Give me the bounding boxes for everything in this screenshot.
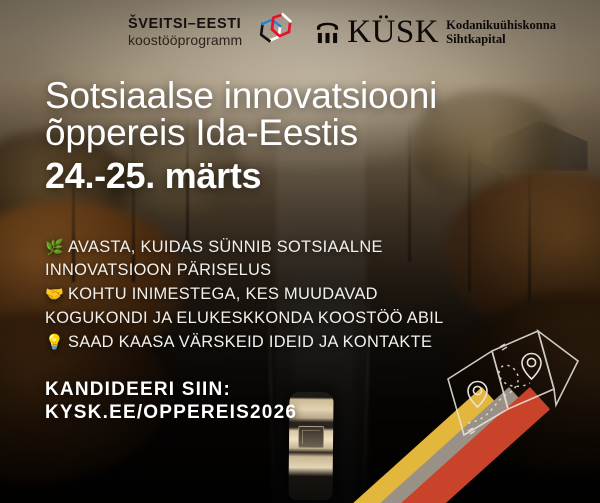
list-item-text: AVASTA, KUIDAS SÜNNIB SOTSIAALNE INNOVAT… (45, 238, 383, 279)
map-panel-middle (492, 331, 554, 409)
kusk-wordmark: KÜSK (347, 17, 439, 47)
list-item: 🤝KOHTU INIMESTEGA, KES MUUDAVAD KOGUKOND… (45, 283, 445, 330)
logo-bar: ŠVEITSI–EESTI koostööprogramm (0, 0, 600, 64)
swiss-logo-text: ŠVEITSI–EESTI koostööprogramm (128, 17, 242, 47)
swiss-logo-line2: koostööprogramm (128, 33, 242, 47)
map-panel-left (448, 351, 508, 435)
classical-building-icon (315, 19, 340, 45)
interlocking-hexagons-icon (251, 12, 293, 52)
folded-map-with-pins-graphic (444, 327, 584, 445)
herb-plant-icon: 🌿 (45, 240, 64, 255)
headline-line2: õppereis Ida-Eestis (45, 115, 545, 152)
kusk-subtitle-line1: Kodanikuühiskonna (446, 18, 556, 32)
kusk-subtitle: Kodanikuühiskonna Sihtkapital (446, 18, 556, 46)
map-pin-left (468, 382, 487, 408)
headline-line1: Sotsiaalse innovatsiooni (45, 78, 545, 115)
lightbulb-icon: 💡 (45, 335, 64, 350)
map-pin-right (522, 354, 541, 380)
event-poster: ŠVEITSI–EESTI koostööprogramm (0, 0, 600, 503)
bus-window (298, 426, 324, 448)
kusk-subtitle-line2: Sihtkapital (446, 32, 556, 46)
page-title: Sotsiaalse innovatsiooni õppereis Ida-Ee… (45, 78, 545, 151)
list-item-text: KOHTU INIMESTEGA, KES MUUDAVAD KOGUKONDI… (45, 285, 444, 326)
list-item-text: SAAD KAASA VÄRSKEID IDEID JA KONTAKTE (68, 333, 432, 351)
list-item: 🌿AVASTA, KUIDAS SÜNNIB SOTSIAALNE INNOVA… (45, 236, 445, 283)
benefit-list: 🌿AVASTA, KUIDAS SÜNNIB SOTSIAALNE INNOVA… (45, 236, 445, 354)
kusk-foundation-logo: KÜSK Kodanikuühiskonna Sihtkapital (315, 17, 556, 47)
event-date: 24.-25. märts (45, 157, 545, 194)
swiss-logo-line1: ŠVEITSI–EESTI (128, 17, 242, 32)
list-item: 💡SAAD KAASA VÄRSKEID IDEID JA KONTAKTE (45, 331, 445, 354)
swiss-estonian-cooperation-logo: ŠVEITSI–EESTI koostööprogramm (128, 12, 293, 52)
handshake-icon: 🤝 (45, 287, 64, 302)
